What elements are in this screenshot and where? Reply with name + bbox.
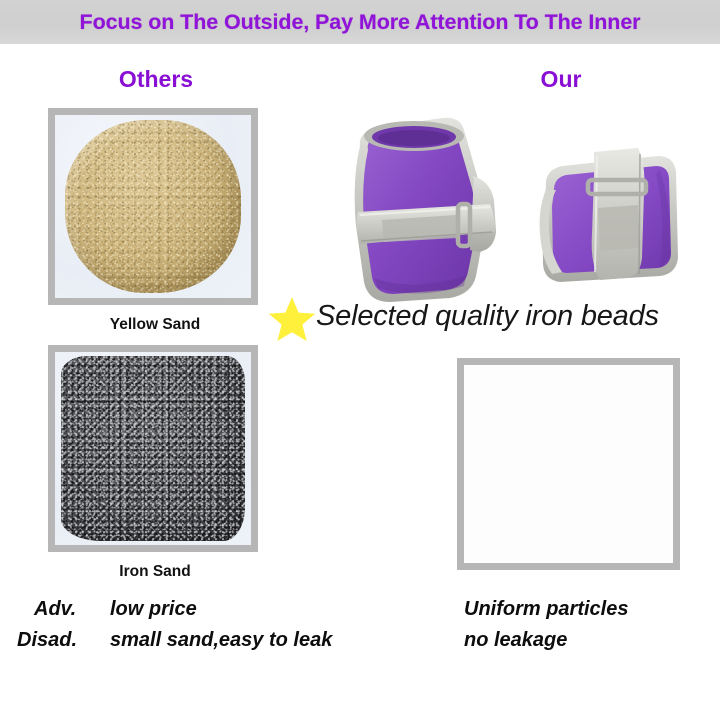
strap-stitch bbox=[639, 154, 640, 274]
star-shape bbox=[269, 297, 315, 341]
velcro-patch-right bbox=[598, 205, 639, 251]
caption-iron-sand: Iron Sand bbox=[119, 563, 190, 581]
disadvantage-value: small sand,easy to leak bbox=[110, 629, 332, 652]
iron-beads-image bbox=[464, 365, 673, 563]
caption-yellow-sand: Yellow Sand bbox=[110, 316, 200, 334]
header-bar: Focus on The Outside, Pay More Attention… bbox=[0, 0, 720, 44]
page-title: Focus on The Outside, Pay More Attention… bbox=[80, 10, 641, 35]
photo-backdrop bbox=[464, 365, 673, 563]
yellow-sand-pile bbox=[65, 120, 241, 292]
column-heading-others: Others bbox=[119, 66, 193, 93]
disadvantage-label: Disad. bbox=[17, 629, 77, 652]
iron-sand-pile bbox=[61, 356, 245, 541]
ankle-weight-left bbox=[355, 118, 496, 302]
advantage-label: Adv. bbox=[34, 598, 76, 621]
iron-sand-photo bbox=[48, 345, 258, 552]
star-icon bbox=[268, 296, 316, 342]
yellow-sand-image bbox=[55, 115, 251, 298]
cuff-opening-shadow bbox=[378, 130, 450, 146]
tagline-text: Selected quality iron beads bbox=[316, 300, 659, 333]
product-photo-ankle-weights bbox=[338, 108, 678, 308]
benefit-line-1: Uniform particles bbox=[464, 598, 628, 621]
ankle-weight-right bbox=[540, 148, 678, 282]
iron-sand-image bbox=[55, 352, 251, 545]
advantage-value: low price bbox=[110, 598, 197, 621]
column-heading-our: Our bbox=[541, 66, 582, 93]
iron-beads-photo bbox=[457, 358, 680, 570]
sand-grain-texture bbox=[65, 120, 241, 292]
benefit-line-2: no leakage bbox=[464, 629, 567, 652]
yellow-sand-photo bbox=[48, 108, 258, 305]
iron-grain-texture bbox=[61, 356, 245, 541]
